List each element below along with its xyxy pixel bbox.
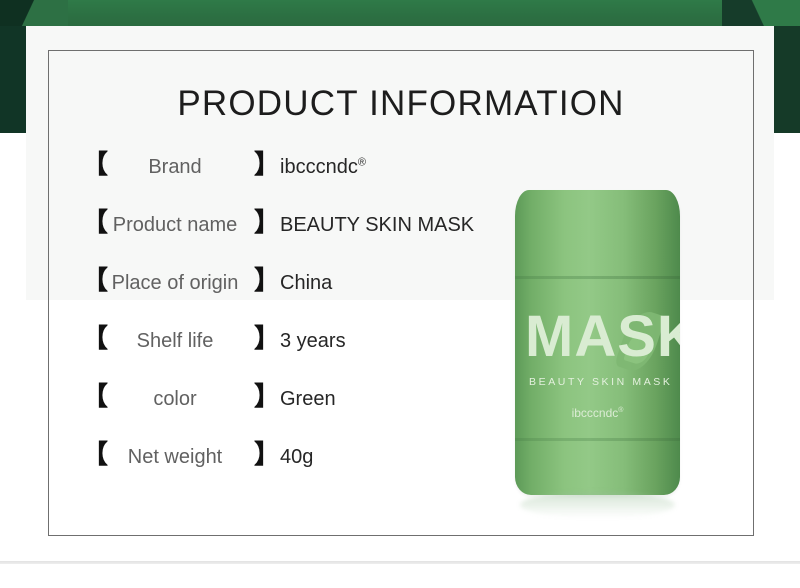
product-photo: MASK BEAUTY SKIN MASK ibcccndc® <box>470 160 750 530</box>
spec-value-shelf-life: 3 years <box>280 330 346 353</box>
spec-list: 【 Brand 】 ibcccndc® 【 Product name 】 BEA… <box>82 152 482 500</box>
spec-row-brand: 【 Brand 】 ibcccndc® <box>82 152 482 210</box>
registered-trademark-icon: ® <box>358 156 366 168</box>
base-seam-line <box>515 438 680 441</box>
bracket-close-icon: 】 <box>254 442 268 468</box>
right-corner-bevel <box>722 0 800 26</box>
spec-value-brand: ibcccndc® <box>280 156 366 179</box>
spec-row-color: 【 color 】 Green <box>82 384 482 442</box>
product-front-text: MASK <box>525 308 680 366</box>
bracket-open-icon: 【 <box>82 384 96 410</box>
bracket-open-icon: 【 <box>82 268 96 294</box>
product-brand-logo: ibcccndc® <box>515 406 680 420</box>
spec-row-product-name: 【 Product name 】 BEAUTY SKIN MASK <box>82 210 482 268</box>
spec-value-place-of-origin: China <box>280 272 332 295</box>
cap-seam-line <box>515 276 680 279</box>
spec-value-brand-text: ibcccndc <box>280 156 358 178</box>
page-title: PRODUCT INFORMATION <box>48 84 754 124</box>
registered-trademark-icon: ® <box>618 407 623 414</box>
product-information-image: PRODUCT INFORMATION 【 Brand 】 ibcccndc® … <box>0 0 800 588</box>
spec-label-color: color <box>96 388 254 411</box>
bracket-close-icon: 】 <box>254 152 268 178</box>
mask-stick-product: MASK BEAUTY SKIN MASK ibcccndc® <box>515 190 680 495</box>
bracket-open-icon: 【 <box>82 326 96 352</box>
spec-value-net-weight: 40g <box>280 446 313 469</box>
spec-label-net-weight: Net weight <box>96 446 254 469</box>
bracket-close-icon: 】 <box>254 210 268 236</box>
bracket-close-icon: 】 <box>254 268 268 294</box>
bracket-open-icon: 【 <box>82 442 96 468</box>
spec-value-color: Green <box>280 388 336 411</box>
spec-value-product-name: BEAUTY SKIN MASK <box>280 214 474 237</box>
spec-row-place-of-origin: 【 Place of origin 】 China <box>82 268 482 326</box>
bottom-divider <box>0 561 800 564</box>
bracket-open-icon: 【 <box>82 210 96 236</box>
spec-label-place-of-origin: Place of origin <box>96 272 254 295</box>
bracket-close-icon: 】 <box>254 384 268 410</box>
top-green-band <box>0 0 800 28</box>
bracket-open-icon: 【 <box>82 152 96 178</box>
product-brand-logo-text: ibcccndc <box>572 406 619 420</box>
spec-label-shelf-life: Shelf life <box>96 330 254 353</box>
spec-label-product-name: Product name <box>96 214 254 237</box>
spec-label-brand: Brand <box>96 156 254 179</box>
product-reflection <box>520 492 675 518</box>
left-corner-bevel <box>0 0 68 26</box>
product-tagline: BEAUTY SKIN MASK <box>529 376 680 388</box>
spec-row-net-weight: 【 Net weight 】 40g <box>82 442 482 500</box>
bracket-close-icon: 】 <box>254 326 268 352</box>
spec-row-shelf-life: 【 Shelf life 】 3 years <box>82 326 482 384</box>
